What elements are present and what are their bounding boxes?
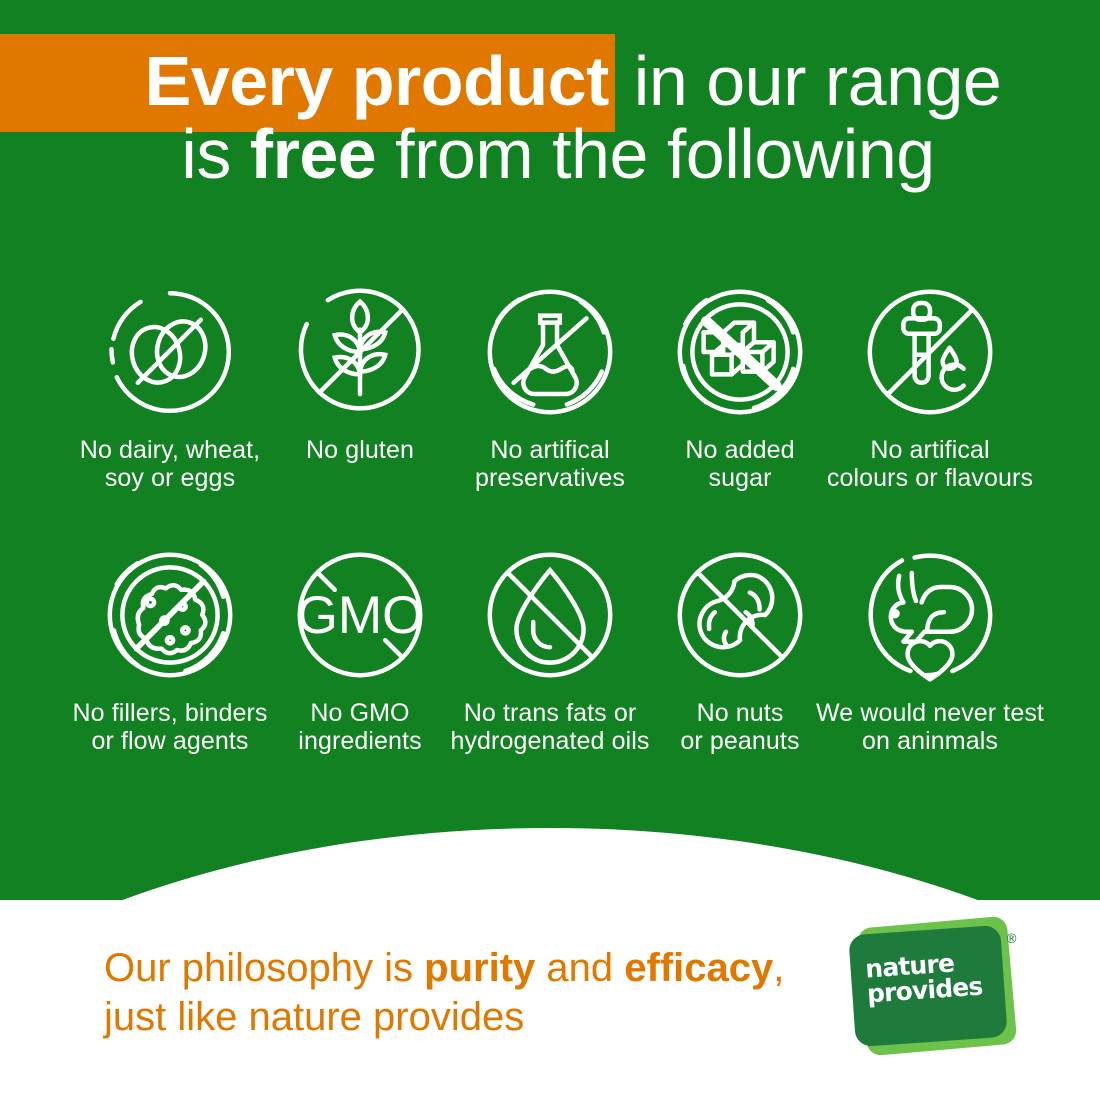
no-gluten-icon <box>290 282 430 422</box>
tagline-part-3: , <box>773 946 784 990</box>
headline-line-2-bold: free <box>250 115 376 193</box>
no-added-sugar-icon <box>670 282 810 422</box>
badge-label: We would never test on aninmals <box>805 699 1055 755</box>
badge-row-1: No dairy, wheat, soy or eggs No gluten <box>0 282 1100 492</box>
badge-label: No nuts or peanuts <box>680 699 799 755</box>
no-gmo-icon: GMO <box>290 545 430 685</box>
badge-no-preservatives: No artifical preservatives <box>455 282 645 492</box>
logo-wordmark: nature provides <box>864 947 999 1006</box>
tagline-part-1: Our philosophy is <box>104 946 424 990</box>
no-fillers-icon <box>100 545 240 685</box>
footer-tagline: Our philosophy is purity and efficacy, j… <box>104 944 804 1042</box>
no-dairy-icon <box>100 282 240 422</box>
nature-provides-logo[interactable]: nature provides ® <box>848 918 1028 1058</box>
badge-label: No added sugar <box>685 436 794 492</box>
badge-no-fillers: No fillers, binders or flow agents <box>75 545 265 755</box>
headline-line-1: Every product in our range <box>0 48 1100 115</box>
badge-label: No gluten <box>306 436 414 464</box>
headline-line-1-rest: in our range <box>615 42 1002 120</box>
gmo-label: GMO <box>296 586 423 645</box>
tagline-bold-efficacy: efficacy <box>624 946 773 990</box>
headline-line-2-part-2: from the following <box>376 115 935 193</box>
headline-line-2-part-1: is <box>181 115 250 193</box>
badge-row-2: No fillers, binders or flow agents GMO N… <box>0 545 1100 755</box>
tagline-bold-purity: purity <box>424 946 535 990</box>
badge-label: No fillers, binders or flow agents <box>55 699 285 755</box>
poster: Every product in our range is free from … <box>0 0 1100 1100</box>
no-colours-icon <box>860 282 1000 422</box>
registered-trademark-icon: ® <box>1005 932 1018 947</box>
badge-no-dairy: No dairy, wheat, soy or eggs <box>75 282 265 492</box>
badge-no-animal-testing: We would never test on aninmals <box>835 545 1025 755</box>
badge-label: No dairy, wheat, soy or eggs <box>55 436 285 492</box>
badge-label: No GMO ingredients <box>298 699 421 755</box>
badge-no-colours: No artifical colours or flavours <box>835 282 1025 492</box>
tagline-part-2: and <box>535 946 624 990</box>
badge-no-gluten: No gluten <box>265 282 455 464</box>
no-trans-fats-icon <box>480 545 620 685</box>
badge-label: No artifical preservatives <box>435 436 665 492</box>
headline: Every product in our range is free from … <box>0 48 1100 187</box>
badge-no-trans-fats: No trans fats or hydrogenated oils <box>455 545 645 755</box>
no-preservatives-icon <box>480 282 620 422</box>
badge-label: No artifical colours or flavours <box>805 436 1055 492</box>
no-nuts-icon <box>670 545 810 685</box>
no-animal-testing-icon <box>860 545 1000 685</box>
tagline-line-2: just like nature provides <box>104 995 524 1039</box>
badge-label: No trans fats or hydrogenated oils <box>425 699 675 755</box>
